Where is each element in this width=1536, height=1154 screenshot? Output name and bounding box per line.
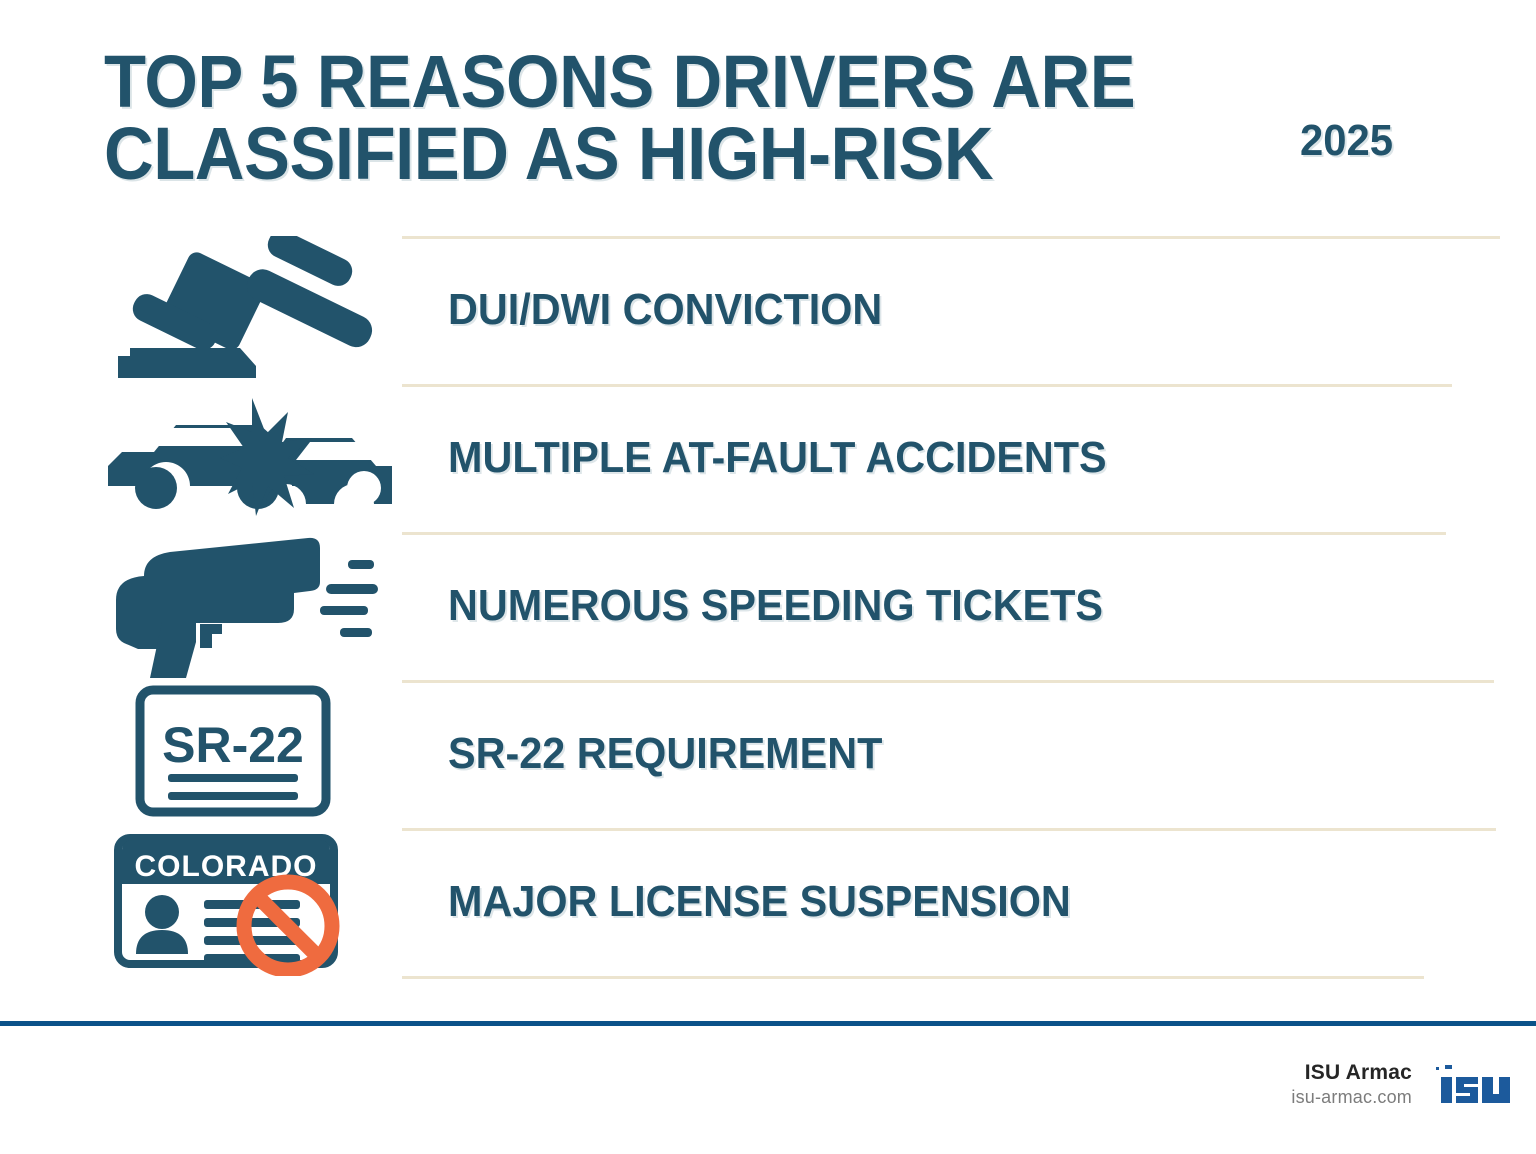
drivers-license-icon: COLORADO (100, 828, 400, 976)
sr22-card-icon: SR-22 (100, 680, 400, 828)
row-divider (402, 976, 1424, 979)
header: TOP 5 REASONS DRIVERS ARE CLASSIFIED AS … (104, 46, 1484, 218)
list-item-label: DUI/DWI CONVICTION (448, 236, 910, 384)
car-crash-icon (100, 384, 400, 532)
list-item-label: MAJOR LICENSE SUSPENSION (448, 828, 1111, 976)
list-item[interactable]: NUMEROUS SPEEDING TICKETS (0, 532, 1536, 680)
reasons-list: DUI/DWI CONVICTION (0, 236, 1536, 992)
list-item-label: MULTIPLE AT-FAULT ACCIDENTS (448, 384, 1149, 532)
footer-rule (0, 1021, 1536, 1026)
list-item[interactable]: DUI/DWI CONVICTION (0, 236, 1536, 384)
sr22-card-text: SR-22 (162, 717, 304, 773)
isu-logo (1434, 1063, 1512, 1107)
radar-gun-icon (100, 532, 400, 680)
website-url[interactable]: isu-armac.com (1291, 1086, 1412, 1109)
company-name: ISU Armac (1291, 1060, 1412, 1086)
footer: ISU Armac isu-armac.com (1291, 1060, 1512, 1110)
page-title: TOP 5 REASONS DRIVERS ARE CLASSIFIED AS … (104, 46, 1155, 190)
list-item[interactable]: SR-22 SR-22 REQUIREMENT (0, 680, 1536, 828)
infographic-page: TOP 5 REASONS DRIVERS ARE CLASSIFIED AS … (0, 0, 1536, 1154)
list-item[interactable]: MULTIPLE AT-FAULT ACCIDENTS (0, 384, 1536, 532)
list-item-label: SR-22 REQUIREMENT (448, 680, 910, 828)
list-footer-divider-row (0, 976, 1536, 992)
gavel-icon (100, 236, 400, 384)
year-label: 2025 (1300, 116, 1393, 166)
list-item-label: NUMEROUS SPEEDING TICKETS (448, 532, 1145, 680)
list-item[interactable]: COLORADO (0, 828, 1536, 976)
